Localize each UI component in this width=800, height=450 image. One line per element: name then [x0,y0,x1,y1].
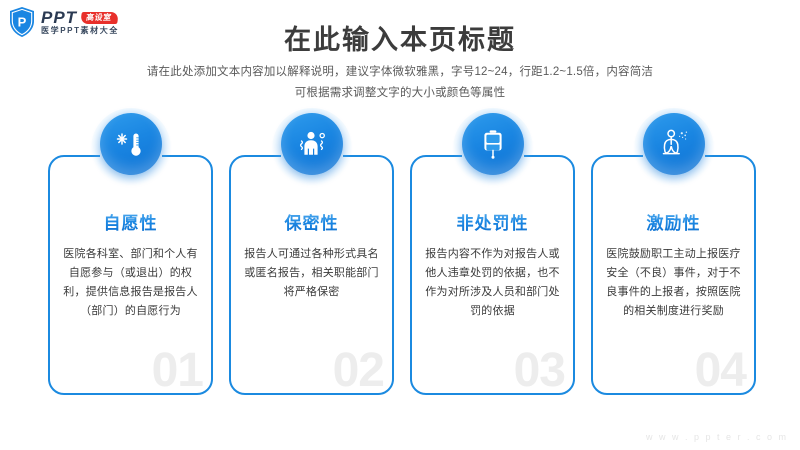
patient-person-icon [281,113,343,175]
iv-drip-bag-icon [462,113,524,175]
card-2-title: 保密性 [231,209,392,234]
card-2-icon-wrap [281,113,343,175]
card-1-title: 自愿性 [50,209,211,234]
page-title: 在此输入本页标题 [0,18,800,57]
card-1-icon-wrap [100,113,162,175]
card-1[interactable]: 自愿性 医院各科室、部门和个人有自愿参与（或退出）的权利，提供信息报告是报告人（… [48,155,213,395]
card-4-number: 04 [695,347,746,395]
card-3-title: 非处罚性 [412,209,573,234]
card-1-number: 01 [152,347,203,395]
site-watermark: w w w . p p t e r . c o m [646,432,788,442]
thermometer-snowflake-icon [100,113,162,175]
lungs-respiration-icon [643,113,705,175]
card-4-icon-wrap [643,113,705,175]
card-4[interactable]: 激励性 医院鼓励职工主动上报医疗安全（不良）事件，对于不良事件的上报者，按照医院… [591,155,756,395]
subtitle-line-1: 请在此处添加文本内容加以解释说明，建议字体微软雅黑，字号12~24，行距1.2~… [0,62,800,83]
card-4-title: 激励性 [593,209,754,234]
card-2[interactable]: 保密性 报告人可通过各种形式具名或匿名报告，相关职能部门将严格保密 02 [229,155,394,395]
card-1-body: 医院各科室、部门和个人有自愿参与（或退出）的权利，提供信息报告是报告人（部门）的… [61,245,200,321]
card-3-number: 03 [514,347,565,395]
card-3[interactable]: 非处罚性 报告内容不作为对报告人或他人违章处罚的依据，也不作为对所涉及人员和部门… [410,155,575,395]
card-2-number: 02 [333,347,384,395]
card-3-body: 报告内容不作为对报告人或他人违章处罚的依据，也不作为对所涉及人员和部门处罚的依据 [423,245,562,321]
cards-row: 自愿性 医院各科室、部门和个人有自愿参与（或退出）的权利，提供信息报告是报告人（… [48,155,756,395]
subtitle-line-2: 可根据需求调整文字的大小或颜色等属性 [0,83,800,104]
page-subtitle: 请在此处添加文本内容加以解释说明，建议字体微软雅黑，字号12~24，行距1.2~… [0,62,800,104]
card-2-body: 报告人可通过各种形式具名或匿名报告，相关职能部门将严格保密 [242,245,381,302]
card-4-body: 医院鼓励职工主动上报医疗安全（不良）事件，对于不良事件的上报者，按照医院的相关制… [604,245,743,321]
card-3-icon-wrap [462,113,524,175]
